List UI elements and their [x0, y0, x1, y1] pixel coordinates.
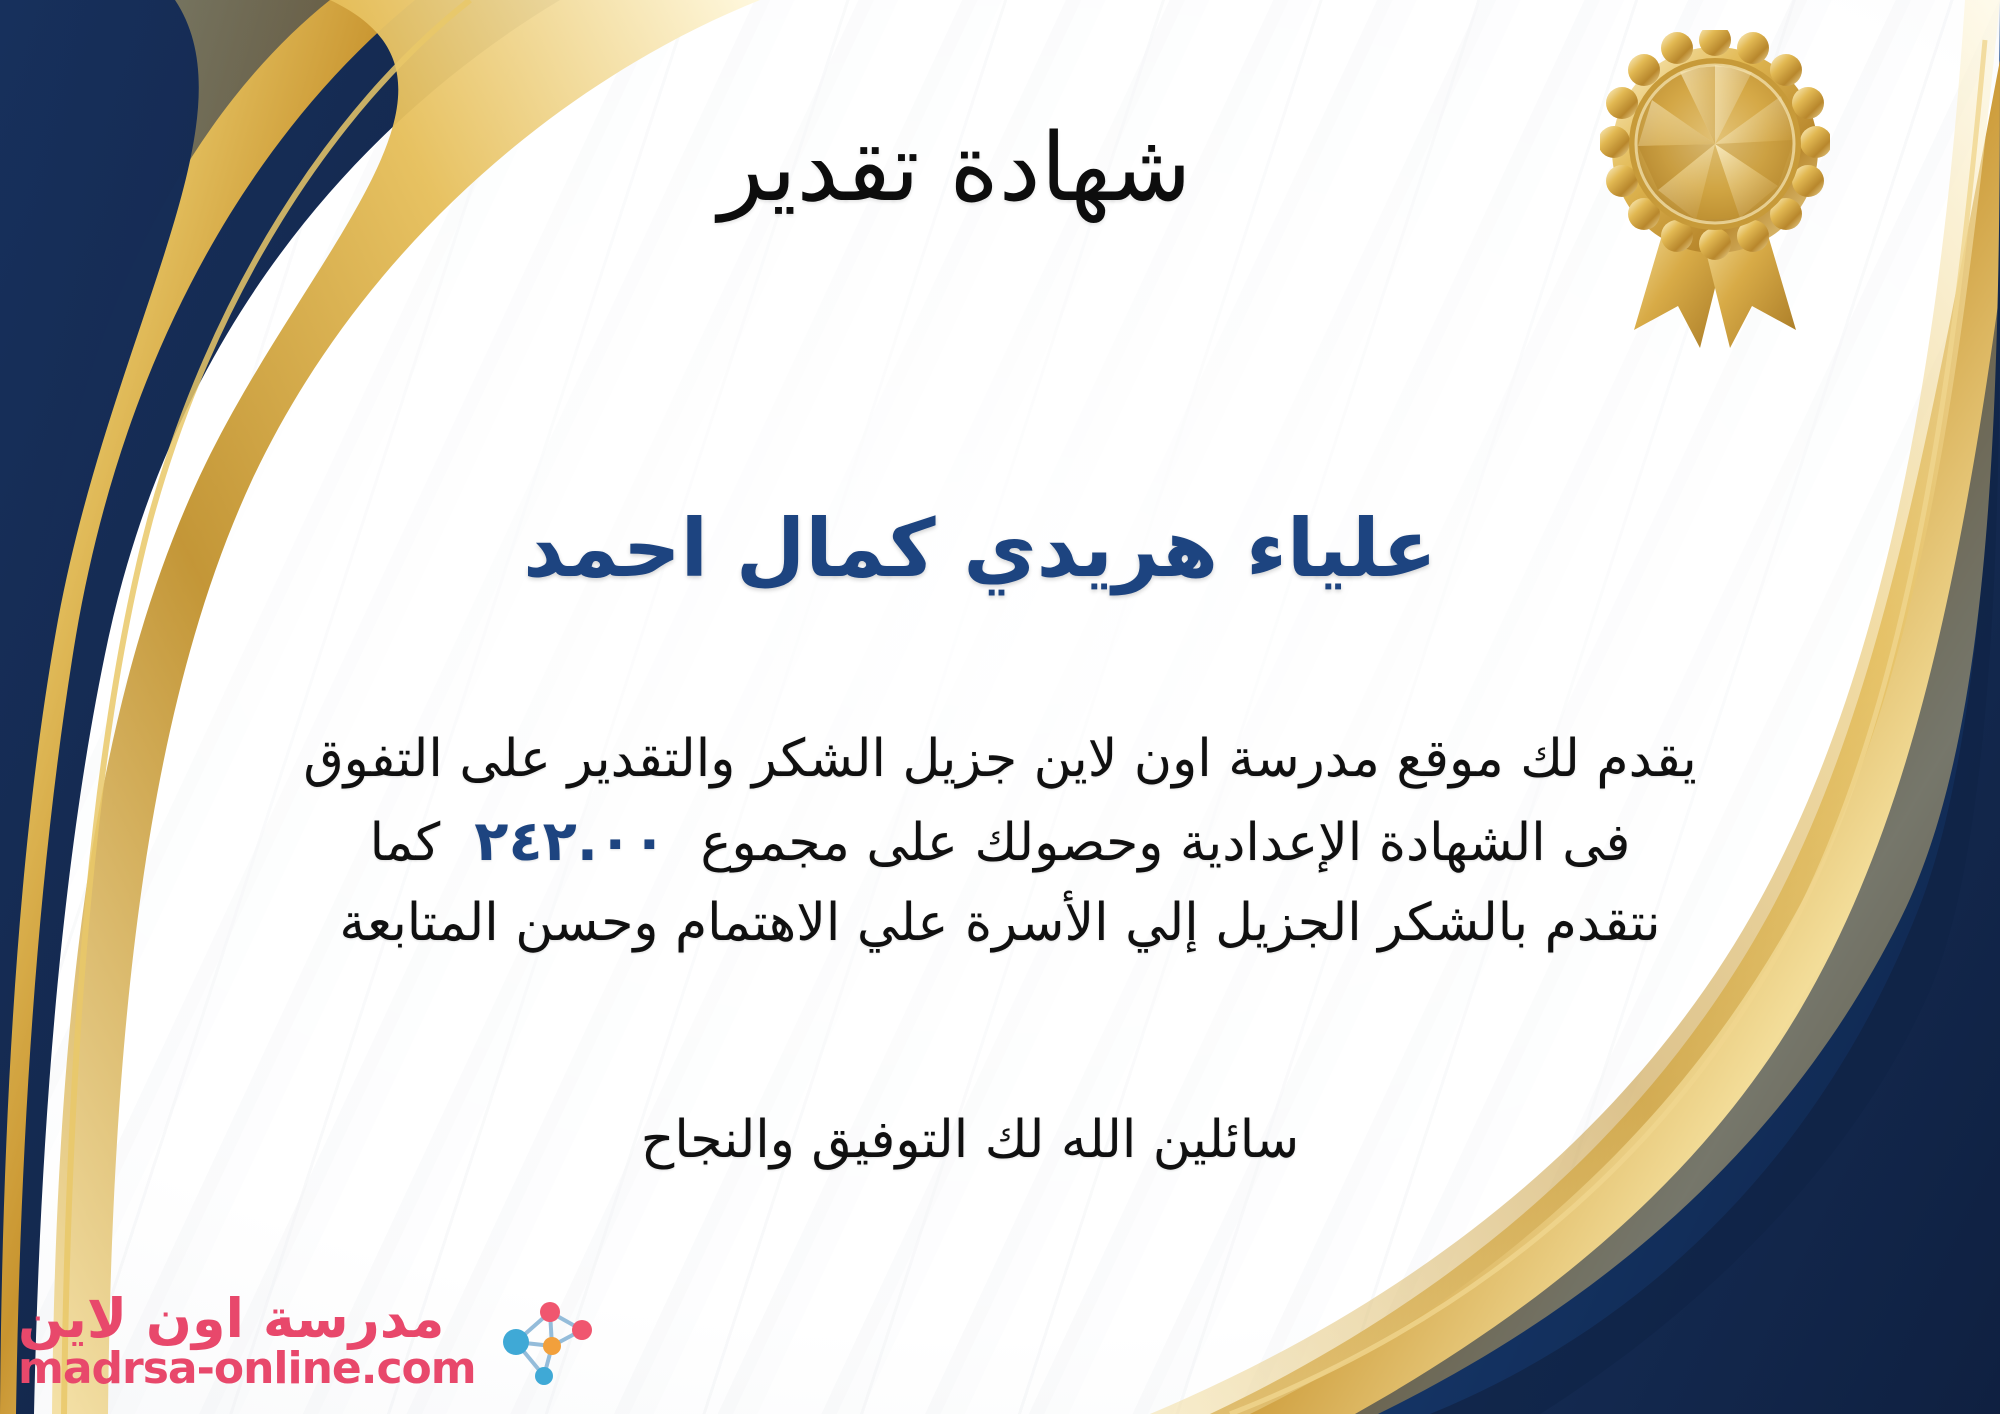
network-nodes-icon: [486, 1290, 598, 1394]
node-right: [572, 1320, 592, 1340]
brand-name-arabic: مدرسة اون لاين: [18, 1291, 444, 1346]
node-top: [540, 1302, 560, 1322]
student-name: علياء هريدي كمال احمد: [0, 505, 2000, 593]
page-title: شهادة تقدير: [0, 120, 2000, 219]
brand-wordmark: مدرسة اون لاين madrsa-online.com: [18, 1291, 476, 1392]
node-left: [503, 1329, 529, 1355]
body-line-2-prefix: فى الشهادة الإعدادية وحصولك على مجموع: [700, 813, 1630, 873]
body-line-1: يقدم لك موقع مدرسة اون لاين جزيل الشكر و…: [55, 720, 1945, 799]
node-bottom: [535, 1367, 553, 1385]
body-line-3: نتقدم بالشكر الجزيل إلي الأسرة علي الاهت…: [55, 884, 1945, 963]
body-line-2: فى الشهادة الإعدادية وحصولك على مجموع٢٤٢…: [55, 799, 1945, 884]
network-nodes-graphic: [486, 1290, 598, 1394]
closing-wish: سائلين الله لك التوفيق والنجاح: [0, 1110, 2000, 1170]
certificate-body: يقدم لك موقع مدرسة اون لاين جزيل الشكر و…: [55, 720, 1945, 963]
node-center: [543, 1337, 561, 1355]
certificate-content: شهادة تقدير علياء هريدي كمال احمد يقدم ل…: [0, 0, 2000, 1414]
certificate-page: شهادة تقدير علياء هريدي كمال احمد يقدم ل…: [0, 0, 2000, 1414]
brand-logo[interactable]: مدرسة اون لاين madrsa-online.com: [18, 1290, 598, 1394]
grade-total-value: ٢٤٢.٠٠: [440, 809, 700, 874]
brand-website-url: madrsa-online.com: [18, 1346, 476, 1392]
body-line-2-suffix: كما: [370, 813, 441, 873]
